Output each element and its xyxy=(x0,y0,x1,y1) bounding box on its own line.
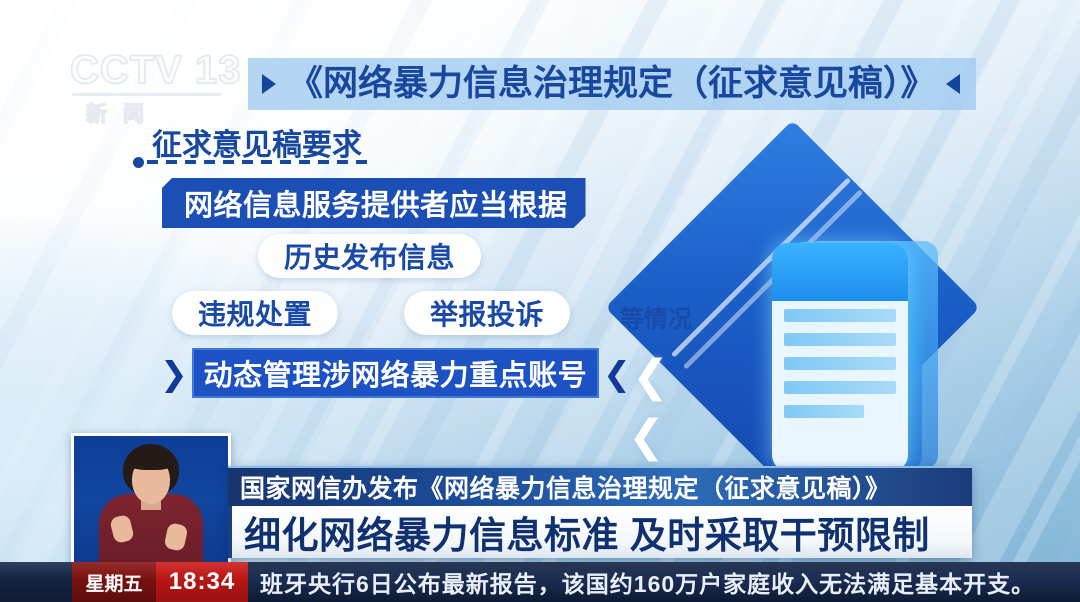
pill-violation-handling: 违规处置 xyxy=(172,291,338,335)
broadcast-screen: ❮ ❮ CCTV 13 新闻 《网络暴力信息治理规定（征求意见稿）》 征求意见稿… xyxy=(0,0,1080,602)
chevron-left-icon: ❮ xyxy=(628,415,665,459)
triangle-left-icon xyxy=(946,74,960,94)
lower-third-subtitle-text: 国家网信办发布《网络暴力信息治理规定（征求意见稿）》 xyxy=(240,469,891,505)
lower-third-subtitle: 国家网信办发布《网络暴力信息治理规定（征求意见稿）》 xyxy=(228,466,972,506)
cctv13-logo: CCTV 13 新闻 xyxy=(70,48,250,126)
dashed-line xyxy=(147,160,368,164)
ticker-scroll-area: 班牙央行6日公布最新报告，该国约160万户家庭收入无法满足基本开支。 xyxy=(248,562,1080,602)
pill-history-info: 历史发布信息 xyxy=(258,234,481,278)
pill-history-info-label: 历史发布信息 xyxy=(284,236,455,276)
ticker-day-badge: 星期五 xyxy=(72,562,156,602)
plain-note-text: 等情况 xyxy=(620,299,692,334)
ticker-day-text: 星期五 xyxy=(85,569,142,596)
document-icon xyxy=(772,243,908,471)
cctv13-logo-text: CCTV 13 xyxy=(70,48,250,92)
interpreter-fringe xyxy=(126,450,176,470)
lower-third-headline: 细化网络暴力信息标准 及时采取干预限制 xyxy=(228,506,972,558)
triangle-right-icon xyxy=(262,74,276,94)
document-stack xyxy=(772,243,912,473)
ticker-news-text: 班牙央行6日公布最新报告，该国约160万户家庭收入无法满足基本开支。 xyxy=(260,565,1035,599)
banner-secondary-text: 动态管理涉网络暴力重点账号 xyxy=(204,352,588,394)
document-text-line xyxy=(784,333,896,346)
pill-report-complaint-label: 举报投诉 xyxy=(430,293,544,333)
sign-language-interpreter-inset xyxy=(71,433,231,569)
lower-third: 国家网信办发布《网络暴力信息治理规定（征求意见稿）》 细化网络暴力信息标准 及时… xyxy=(228,466,972,558)
dashed-rule xyxy=(133,157,368,167)
graphic-title-text: 《网络暴力信息治理规定（征求意见稿）》 xyxy=(288,58,936,110)
banner-primary-text: 网络信息服务提供者应当根据 xyxy=(184,182,568,224)
ticker-time-text: 18:34 xyxy=(169,568,235,596)
arrow-left-icon: ❮ xyxy=(603,357,631,390)
chevron-left-icon: ❮ xyxy=(632,355,669,399)
document-text-line xyxy=(784,381,896,394)
cctv13-logo-underline xyxy=(72,93,222,96)
document-text-line xyxy=(784,405,864,418)
pill-report-complaint: 举报投诉 xyxy=(404,291,570,335)
document-header-band xyxy=(772,243,908,301)
interpreter-video xyxy=(74,436,228,566)
bullet-dot-icon xyxy=(133,157,144,168)
ticker-left-spacer xyxy=(0,562,72,602)
banner-secondary: 动态管理涉网络暴力重点账号 xyxy=(192,348,600,398)
ticker-time-badge: 18:34 xyxy=(156,562,248,602)
arrow-right-icon: ❯ xyxy=(160,357,188,390)
document-text-line xyxy=(784,309,896,322)
graphic-title-bar: 《网络暴力信息治理规定（征求意见稿）》 xyxy=(248,58,976,110)
document-lines xyxy=(772,301,908,418)
banner-secondary-wrap: ❯ 动态管理涉网络暴力重点账号 ❮ xyxy=(160,348,631,398)
news-ticker: 星期五 18:34 班牙央行6日公布最新报告，该国约160万户家庭收入无法满足基… xyxy=(0,562,1080,602)
lower-third-headline-text: 细化网络暴力信息标准 及时采取干预限制 xyxy=(244,505,930,559)
document-text-line xyxy=(784,357,896,370)
banner-primary: 网络信息服务提供者应当根据 xyxy=(162,178,586,228)
pill-violation-handling-label: 违规处置 xyxy=(198,293,312,333)
